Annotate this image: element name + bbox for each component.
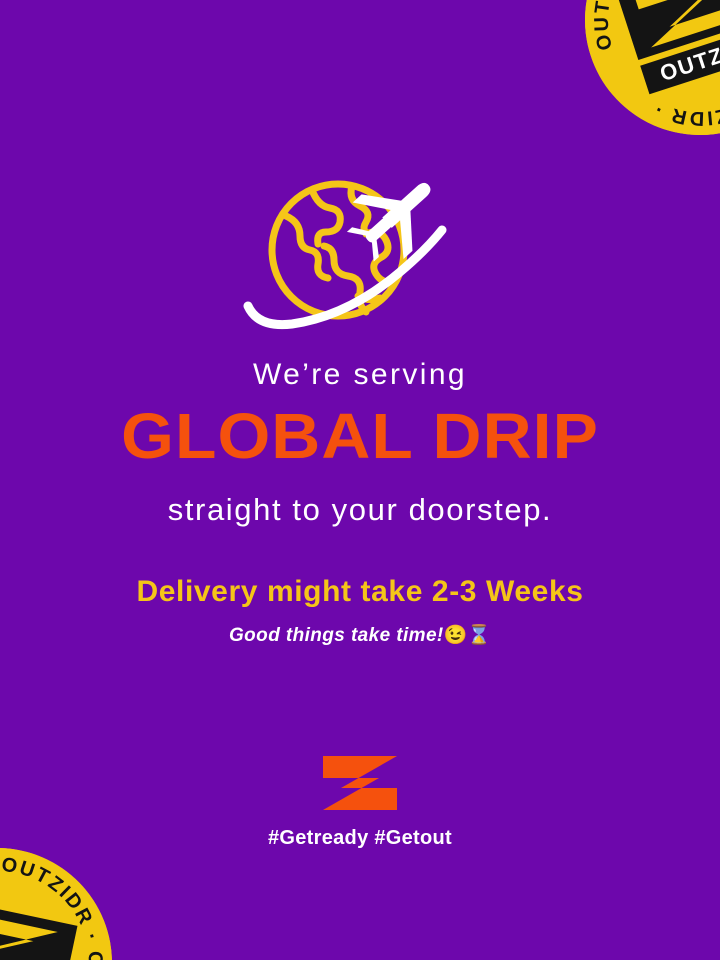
brand-z-logo-icon [321,754,399,812]
hero-copy: We’re serving GLOBAL DRIP straight to yo… [0,360,720,645]
eyebrow-text: We’re serving [0,360,720,390]
tagline-emoji: 😉⌛ [444,625,491,646]
footer-lockup: #Getready #Getout [0,754,720,848]
hashtags-text: #Getready #Getout [0,828,720,848]
poster-canvas: OUTZIDR · OUTZIDR · OUTZIDR · OUTZIDR · … [0,0,720,960]
globe-airplane-illustration [0,178,720,338]
page-title: GLOBAL DRIP [0,404,720,468]
brand-seal-top-right: OUTZIDR · OUTZIDR · OUTZIDR · OUTZIDR · … [555,0,720,165]
tagline-label: Good things take time! [229,625,444,646]
subline-text: straight to your doorstep. [0,494,720,525]
delivery-notice: Delivery might take 2-3 Weeks [0,577,720,607]
tagline-text: Good things take time!😉⌛ [0,626,720,645]
